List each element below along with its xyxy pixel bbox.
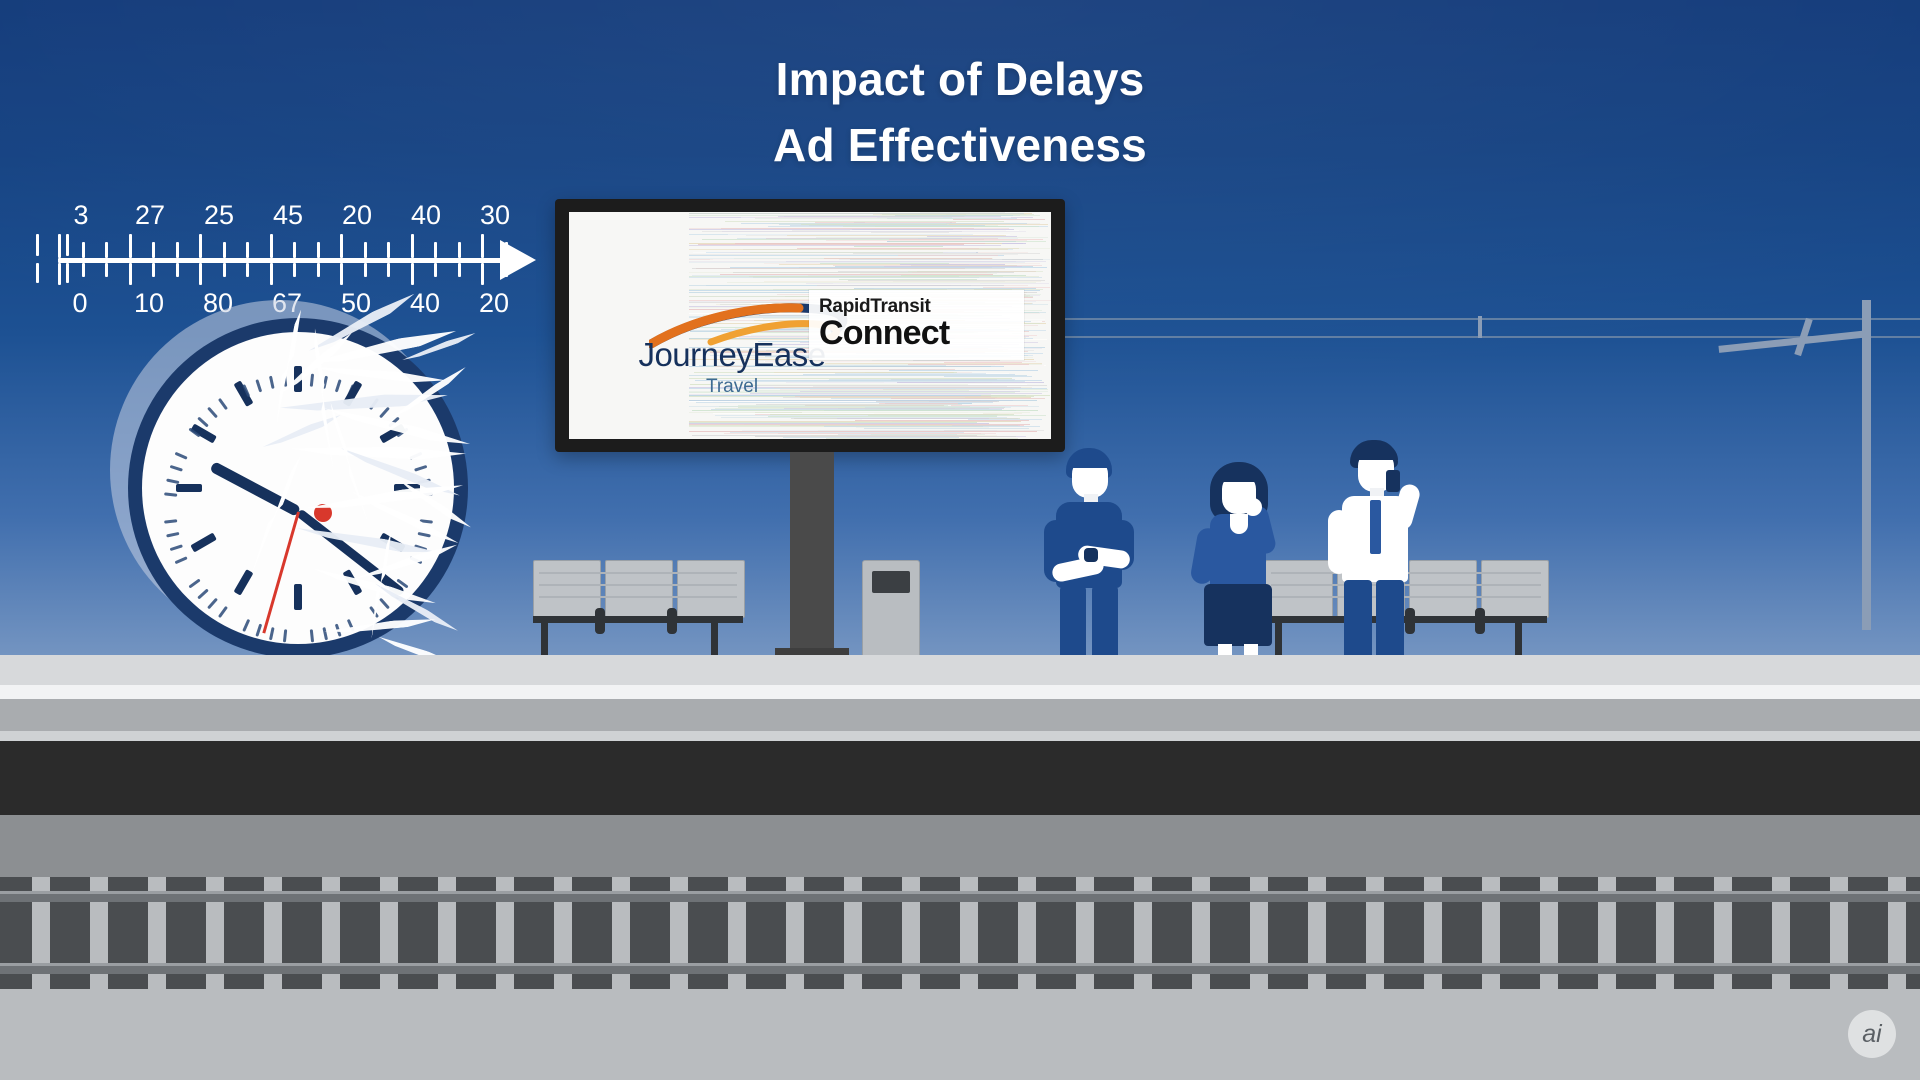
glitch-streak	[868, 415, 1047, 416]
axis-tick-major	[129, 234, 132, 258]
glass-shard	[323, 404, 471, 450]
axis-tick-minor	[152, 242, 155, 258]
crack-bolt	[246, 454, 304, 575]
glitch-streak	[889, 370, 1038, 371]
billboard-screen: JourneyEase Travel RapidTransit Connect	[569, 212, 1051, 439]
bench-armrest	[595, 608, 605, 634]
bench-armrest	[667, 608, 677, 634]
glitch-streak	[689, 424, 1030, 425]
axis-tick-minor-lower	[152, 263, 155, 277]
axis-tick-minor-lower	[293, 263, 296, 277]
bench-seat	[605, 560, 673, 618]
axis-tick-minor-lower	[176, 263, 179, 277]
platform-billboard[interactable]: JourneyEase Travel RapidTransit Connect	[555, 199, 1065, 452]
glitch-streak	[957, 248, 1051, 249]
axis-tick-major-lower	[340, 263, 343, 285]
catenary-pole	[1862, 300, 1871, 630]
clock-minute-mark	[166, 478, 179, 484]
glitch-streak	[689, 213, 1024, 214]
glitch-streak	[750, 252, 943, 253]
axis-label-top-1: 27	[135, 200, 165, 231]
clock-minute-mark	[164, 519, 177, 523]
billboard-post	[790, 452, 834, 662]
axis-edge-tick-2	[66, 234, 69, 256]
axis-tick-major-lower	[270, 263, 273, 285]
axis-tick-major	[481, 234, 484, 258]
axis-tick-major-lower	[481, 263, 484, 285]
bench-leg	[541, 620, 548, 660]
catenary-wire-upper	[1060, 318, 1920, 320]
bench-leg	[1515, 620, 1522, 660]
axis-tick-minor	[458, 242, 461, 258]
glitch-streak	[864, 428, 1029, 429]
glitch-streak	[689, 245, 1001, 246]
axis-tick-minor	[293, 242, 296, 258]
glitch-streak	[944, 362, 1023, 363]
glitch-streak	[865, 407, 1012, 408]
axis-tick-major	[199, 234, 202, 258]
axis-label-top-6: 30	[480, 200, 510, 231]
hair-fringe	[1356, 444, 1398, 460]
track-shadow-band	[0, 741, 1920, 815]
clock-minute-mark	[169, 465, 182, 472]
glass-shard	[314, 363, 446, 386]
axis-tick-major	[270, 234, 273, 258]
axis-tick-major-lower	[411, 263, 414, 285]
glass-shard	[262, 413, 343, 451]
rail-far-sheen	[0, 963, 1920, 966]
glitch-streak	[815, 222, 956, 223]
glitch-streak	[981, 395, 1051, 396]
glitch-streak	[786, 261, 1046, 262]
axis-tick-minor-lower	[505, 263, 508, 277]
glitch-streak	[891, 398, 1045, 399]
glitch-streak	[779, 278, 1017, 279]
arm-left	[1328, 510, 1350, 574]
glitch-streak	[898, 255, 999, 256]
rail-near-sheen	[0, 891, 1920, 894]
bench-left	[533, 560, 748, 670]
axis-tick-minor-lower	[434, 263, 437, 277]
glitch-streak	[839, 259, 1050, 260]
axis-label-top-0: 3	[73, 200, 88, 231]
clock-minute-mark	[242, 619, 250, 632]
axis-tick-minor	[364, 242, 367, 258]
glass-shard	[324, 616, 436, 636]
glitch-streak	[790, 225, 984, 226]
glitch-streak	[927, 236, 1017, 237]
glitch-streak	[890, 241, 1046, 242]
axis-tick-major	[411, 234, 414, 258]
clock-minute-mark	[174, 452, 187, 460]
axis-label-top-4: 20	[342, 200, 372, 231]
collar	[1230, 514, 1248, 534]
hair-front	[1218, 468, 1260, 482]
clock-minute-mark	[169, 544, 182, 551]
axis-label-top-3: 45	[273, 200, 303, 231]
axis-tick-minor-lower	[364, 263, 367, 277]
platform-surface	[0, 655, 1920, 685]
bench-armrest	[1475, 608, 1485, 634]
ad-overlay-line-2: Connect	[819, 314, 949, 353]
axis-edge-tick-2b	[66, 263, 69, 283]
glitch-streak	[871, 232, 949, 233]
track-bed	[0, 877, 1920, 1080]
glitch-streak	[689, 218, 1028, 219]
glitch-streak	[698, 244, 964, 245]
skirt	[1204, 584, 1272, 646]
glitch-streak	[855, 420, 1030, 421]
axis-tick-minor-lower	[105, 263, 108, 277]
axis-tick-minor-lower	[246, 263, 249, 277]
bench-slat	[539, 572, 737, 574]
glitch-streak	[850, 230, 1019, 231]
glitch-streak	[826, 438, 1019, 439]
axis-line	[58, 258, 506, 263]
axis-tick-major-lower	[129, 263, 132, 285]
bench-seat	[533, 560, 601, 618]
glitch-streak	[900, 264, 1005, 265]
axis-tick-minor	[317, 242, 320, 258]
glitch-streak	[755, 436, 1016, 437]
axis-tick-major-lower	[199, 263, 202, 285]
axis-tick-major	[340, 234, 343, 258]
glitch-streak	[797, 248, 979, 249]
bench-slat	[539, 584, 737, 586]
glitch-streak	[953, 219, 1045, 220]
clock-minute-mark	[217, 606, 227, 618]
axis-label-bottom-0: 0	[72, 288, 87, 319]
glass-shard	[311, 565, 437, 609]
axis-tick-major	[58, 234, 61, 258]
clock-minute-mark	[197, 589, 209, 600]
glitch-streak	[848, 280, 1046, 281]
glitch-streak	[730, 432, 964, 433]
trash-bin	[862, 560, 920, 667]
bench-seat	[1481, 560, 1549, 618]
glitch-streak	[721, 228, 974, 229]
ad-brand-tagline: Travel	[607, 376, 857, 398]
clock-minute-mark	[207, 598, 218, 610]
axis-tick-minor	[223, 242, 226, 258]
axis-edge-tick-1	[36, 234, 39, 256]
bench-seat	[677, 560, 745, 618]
axis-label-top-2: 25	[204, 200, 234, 231]
glitch-streak	[692, 410, 1039, 411]
glitch-streak	[912, 272, 987, 273]
glitch-streak	[908, 364, 1029, 365]
axis-tick-minor	[82, 242, 85, 258]
glitch-streak	[889, 239, 1043, 240]
axis-tick-minor	[246, 242, 249, 258]
clock-hour-mark	[176, 484, 202, 492]
axis-tick-minor-lower	[223, 263, 226, 277]
clock-minute-mark	[188, 578, 200, 588]
axis-tick-major-lower	[58, 263, 61, 285]
axis-label-top-5: 40	[411, 200, 441, 231]
platform-edge-strip	[0, 685, 1920, 699]
axis-tick-minor	[505, 242, 508, 258]
illustration-canvas: Impact of Delays Ad Effectiveness 327254…	[0, 0, 1920, 1080]
catenary-dropper	[1478, 316, 1482, 338]
phone-icon	[1386, 470, 1400, 492]
axis-edge-tick-1b	[36, 263, 39, 283]
hand-to-face	[1244, 498, 1262, 516]
platform-face	[0, 699, 1920, 731]
glitch-streak	[811, 435, 997, 436]
axis-tick-minor	[105, 242, 108, 258]
glitch-streak	[824, 426, 1040, 427]
necktie-icon	[1370, 500, 1381, 554]
glitch-streak	[764, 281, 1041, 282]
clock-minute-mark	[217, 398, 227, 410]
axis-tick-minor	[176, 242, 179, 258]
clock-shatter-shards	[250, 300, 570, 670]
glitch-streak	[783, 437, 960, 438]
glass-shard	[296, 524, 438, 559]
glitch-streak	[857, 268, 961, 269]
clock-minute-mark	[164, 492, 177, 496]
axis-tick-minor	[387, 242, 390, 258]
clock-minute-mark	[207, 407, 218, 419]
bench-slat	[539, 596, 737, 598]
axis-tick-minor-lower	[387, 263, 390, 277]
clock-minute-mark	[166, 532, 179, 538]
glass-shard	[290, 443, 466, 461]
glitch-streak	[876, 401, 999, 402]
axis-tick-minor	[434, 242, 437, 258]
glitch-streak	[881, 216, 965, 217]
glitch-streak	[735, 243, 985, 244]
glitch-streak	[713, 413, 982, 414]
axis-tick-minor-lower	[317, 263, 320, 277]
glitch-streak	[854, 288, 1036, 289]
glitch-streak	[749, 276, 1003, 277]
wristwatch-icon	[1084, 548, 1098, 562]
glitch-streak	[854, 246, 943, 247]
clock-minute-mark	[174, 556, 187, 564]
axis-tick-minor-lower	[458, 263, 461, 277]
bin-slot	[872, 571, 910, 593]
bench-leg	[711, 620, 718, 660]
clock-hour-mark	[190, 533, 217, 553]
platform-lip	[0, 731, 1920, 741]
ai-watermark: ai	[1848, 1010, 1896, 1058]
axis-tick-minor-lower	[82, 263, 85, 277]
glitch-streak	[738, 405, 948, 406]
ad-overlay-logo: RapidTransit Connect	[809, 290, 1024, 360]
